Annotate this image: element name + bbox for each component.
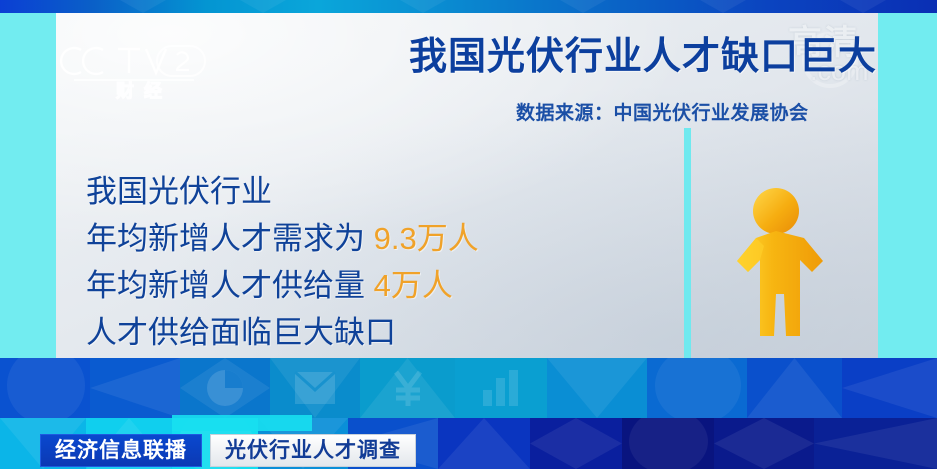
person-figure-icon xyxy=(726,186,838,346)
bar-chart-icon xyxy=(479,368,523,408)
envelope-icon xyxy=(294,371,336,405)
body-line-1-text: 我国光伏行业 xyxy=(86,174,272,209)
body-line-2: 年均新增人才需求为 9.3万人 xyxy=(86,215,646,262)
topic-badge: 光伏行业人才调查 xyxy=(210,434,416,467)
body-line-4-text: 人才供给面临巨大缺口 xyxy=(86,315,396,350)
yen-symbol-icon xyxy=(388,366,428,410)
cyan-accent-bar xyxy=(172,415,312,431)
body-line-1: 我国光伏行业 xyxy=(86,168,646,215)
cyan-vertical-divider xyxy=(684,128,691,358)
program-name-badge: 经济信息联播 xyxy=(40,434,202,467)
data-source-label: 数据来源：中国光伏行业发展协会 xyxy=(516,98,809,125)
pie-chart-icon xyxy=(202,365,248,411)
body-line-3: 年均新增人才供给量 4万人 xyxy=(86,262,646,309)
demand-value: 9.3万人 xyxy=(374,221,479,256)
decorative-row-top xyxy=(0,358,937,418)
supply-value: 4万人 xyxy=(374,268,453,303)
cyan-strip-right xyxy=(878,13,937,358)
logo-sub-label: 财经 xyxy=(116,80,172,101)
cyan-strip-left xyxy=(0,13,56,358)
top-accent-bar xyxy=(0,0,937,13)
body-copy: 我国光伏行业 年均新增人才需求为 9.3万人 年均新增人才供给量 4万人 人才供… xyxy=(86,168,646,356)
cctv2-logo: 财经 xyxy=(56,30,216,102)
page-title: 我国光伏行业人才缺口巨大 xyxy=(409,38,877,78)
body-line-3-text: 年均新增人才供给量 xyxy=(86,268,374,303)
lower-third-banner: 经济信息联播 光伏行业人才调查 xyxy=(40,434,416,467)
broadcast-screen: 财经 高清 .com 我国光伏行业人才缺口巨大 数据来源：中国光伏行业发展协会 … xyxy=(0,0,937,469)
body-line-2-text: 年均新增人才需求为 xyxy=(86,221,374,256)
body-line-4: 人才供给面临巨大缺口 xyxy=(86,309,646,356)
